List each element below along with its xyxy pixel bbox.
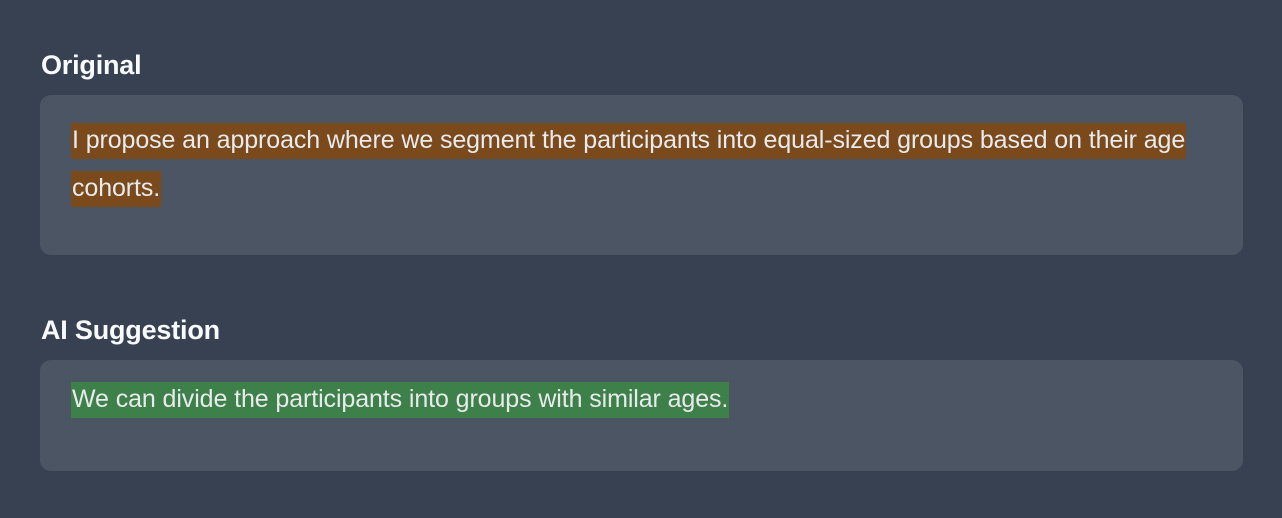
original-text-card: I propose an approach where we segment t…	[40, 95, 1243, 255]
ai-suggestion-section-heading: AI Suggestion	[41, 313, 1243, 347]
original-section: Original I propose an approach where we …	[40, 48, 1243, 255]
text-comparison-page: Original I propose an approach where we …	[0, 0, 1282, 518]
ai-suggestion-text-card: We can divide the participants into grou…	[40, 360, 1243, 471]
ai-suggestion-text-paragraph: We can divide the participants into grou…	[71, 381, 1212, 417]
original-text-paragraph: I propose an approach where we segment t…	[71, 116, 1212, 212]
ai-suggestion-highlighted-text: We can divide the participants into grou…	[71, 382, 729, 418]
ai-suggestion-section: AI Suggestion We can divide the particip…	[40, 313, 1243, 471]
original-section-heading: Original	[41, 48, 1243, 82]
original-highlighted-text: I propose an approach where we segment t…	[71, 123, 1186, 207]
